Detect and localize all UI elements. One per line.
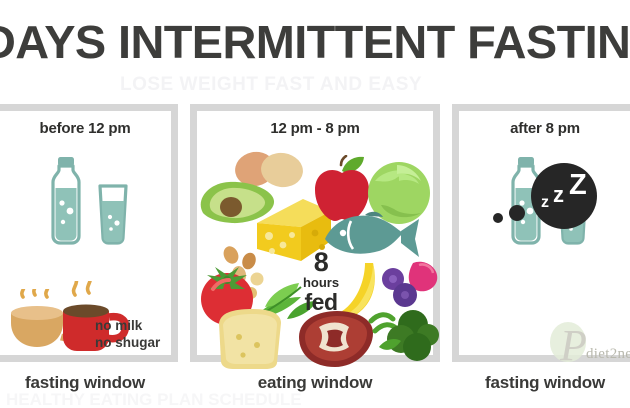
sleep-bubble: z z Z — [531, 163, 597, 229]
fed-hours-unit: hours — [285, 275, 357, 290]
infographic-canvas: DAYS INTERMITTENT FASTING LOSE WEIGHT FA… — [0, 0, 630, 408]
panel-header-after-8pm: after 8 pm — [459, 120, 630, 137]
z-large: Z — [569, 169, 587, 202]
panel-eating-window: 12 pm - 8 pm — [190, 104, 440, 362]
panel-header-12pm-8pm: 12 pm - 8 pm — [197, 120, 433, 137]
fed-duration-block: 8 hours fed — [285, 249, 357, 314]
bread-icon — [211, 307, 287, 369]
page-title: DAYS INTERMITTENT FASTING — [0, 16, 630, 68]
fed-hours-number: 8 — [285, 249, 357, 275]
water-glass-icon — [95, 183, 131, 245]
broccoli-icon — [365, 305, 439, 367]
panel-body-eating: 8 hours fed — [197, 141, 433, 355]
note-line-no-milk: no milk — [95, 317, 160, 334]
water-bottle-icon — [43, 155, 89, 245]
panel-fasting-morning: before 12 pm — [0, 104, 178, 362]
z-small: z — [541, 194, 549, 212]
steak-icon — [289, 309, 375, 369]
page-subtitle-ghost: LOSE WEIGHT FAST AND EASY — [120, 74, 520, 96]
no-milk-no-sugar-note: no milk no shugar — [95, 317, 160, 351]
panel-body-evening: z z Z — [459, 141, 630, 355]
panel-header-before-12pm: before 12 pm — [0, 120, 171, 137]
fed-state-label: fed — [285, 290, 357, 314]
panel-fasting-evening: after 8 pm — [452, 104, 630, 362]
title-band: DAYS INTERMITTENT FASTING LOSE WEIGHT FA… — [0, 0, 630, 96]
panel-body-morning: no milk no shugar — [0, 141, 171, 355]
z-medium: z — [553, 182, 564, 208]
footer-ghost-text: HEALTHY EATING PLAN SCHEDULE — [6, 390, 626, 408]
sleep-dot-medium — [509, 205, 525, 221]
sleep-dot-small — [493, 213, 503, 223]
panel-row: before 12 pm — [0, 104, 630, 408]
note-line-no-sugar: no shugar — [95, 334, 160, 351]
